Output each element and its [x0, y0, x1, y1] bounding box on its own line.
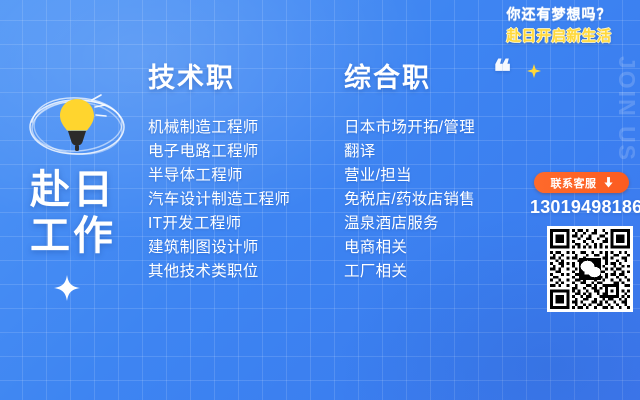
- list-item: 营业/担当: [344, 164, 475, 188]
- main-title-line-1: 赴日: [30, 168, 116, 214]
- contact-phone-number[interactable]: 13019498186: [530, 197, 634, 218]
- arrow-down-icon: [604, 177, 613, 188]
- sparkle-star-icon: [527, 64, 541, 78]
- list-item: IT开发工程师: [148, 212, 290, 236]
- list-item: 日本市场开拓/管理: [344, 116, 475, 140]
- job-column-tech: 技术职 机械制造工程师 电子电路工程师 半导体工程师 汽车设计制造工程师 IT开…: [148, 62, 290, 284]
- contact-support-label: 联系客服: [551, 175, 597, 191]
- list-item: 工厂相关: [344, 260, 475, 284]
- poster-canvas: JOIN US 你还有梦想吗？ 赴日开启新生活 ❝: [0, 0, 640, 400]
- headline-line-1: 你还有梦想吗？: [491, 4, 627, 25]
- list-item: 电商相关: [344, 236, 475, 260]
- column-title-tech: 技术职: [148, 62, 290, 94]
- list-item: 翻译: [344, 140, 475, 164]
- lightbulb-illustration: [22, 84, 134, 166]
- contact-support-button[interactable]: 联系客服: [534, 172, 629, 193]
- list-item: 半导体工程师: [148, 164, 290, 188]
- quote-mark-icon: ❝: [493, 56, 511, 90]
- wechat-qr-code[interactable]: [547, 226, 633, 312]
- poster-main-title: 赴日 工作: [30, 168, 116, 259]
- list-item: 温泉酒店服务: [344, 212, 475, 236]
- list-item: 机械制造工程师: [148, 116, 290, 140]
- sparkle-star-left-icon: [54, 275, 80, 301]
- headline-block: 你还有梦想吗？ 赴日开启新生活: [491, 4, 627, 47]
- job-column-general: 综合职 日本市场开拓/管理 翻译 营业/担当 免税店/药妆店销售 温泉酒店服务 …: [344, 62, 475, 284]
- job-list-general: 日本市场开拓/管理 翻译 营业/担当 免税店/药妆店销售 温泉酒店服务 电商相关…: [344, 116, 475, 284]
- vertical-watermark-text: JOIN US: [615, 56, 638, 162]
- list-item: 建筑制图设计师: [148, 236, 290, 260]
- headline-line-2: 赴日开启新生活: [491, 27, 627, 47]
- column-title-general: 综合职: [344, 62, 475, 94]
- list-item: 免税店/药妆店销售: [344, 188, 475, 212]
- main-title-line-2: 工作: [30, 214, 116, 260]
- list-item: 其他技术类职位: [148, 260, 290, 284]
- list-item: 汽车设计制造工程师: [148, 188, 290, 212]
- list-item: 电子电路工程师: [148, 140, 290, 164]
- job-list-tech: 机械制造工程师 电子电路工程师 半导体工程师 汽车设计制造工程师 IT开发工程师…: [148, 116, 290, 284]
